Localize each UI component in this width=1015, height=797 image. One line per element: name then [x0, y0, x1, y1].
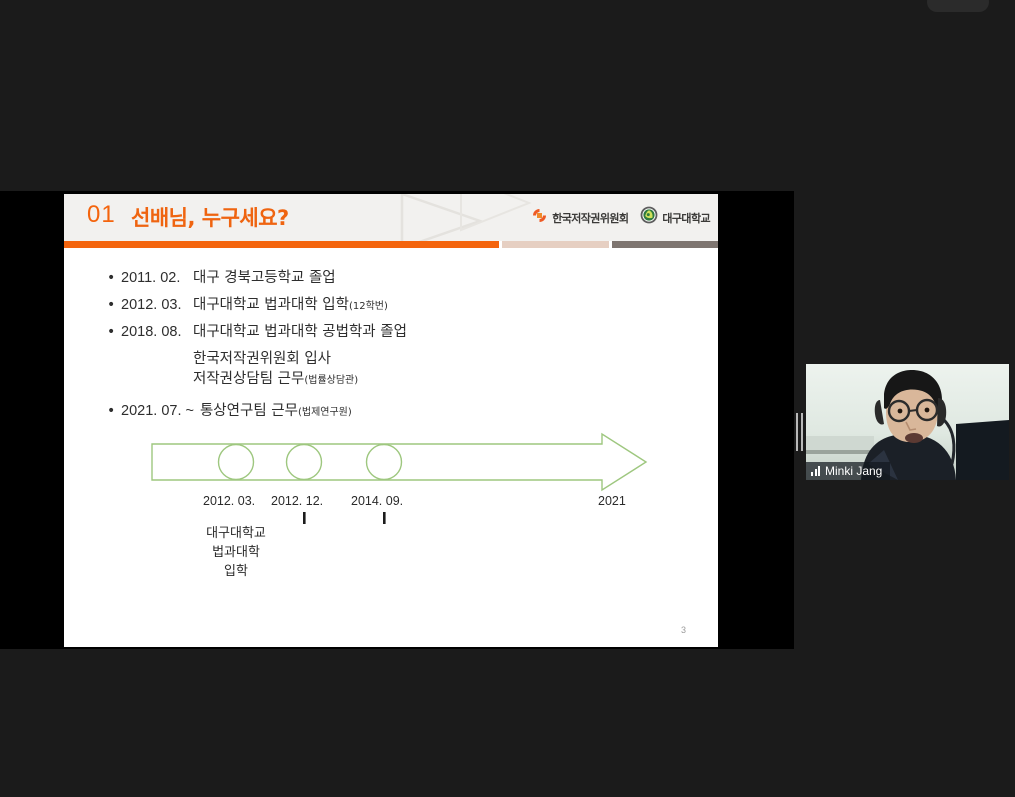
continuation-text: 한국저작권위원회 입사 — [193, 351, 331, 367]
slide-title: 선배님, 누구세요? — [131, 202, 289, 232]
bullet-dot-icon: • — [107, 295, 121, 315]
bullet-dot-icon: • — [107, 401, 121, 421]
bullet-sub-text: (법제연구원) — [298, 407, 352, 418]
bullet-main-text: 통상연구팀 근무 — [200, 403, 298, 419]
logo-label-daegu: 대구대학교 — [662, 210, 710, 226]
daegu-university-logo-icon — [640, 206, 658, 229]
accent-bar-orange — [64, 241, 499, 248]
bullet-dot-icon: • — [107, 322, 121, 342]
bullet-main-text: 대구대학교 법과대학 입학 — [193, 297, 349, 313]
continuation-text: 저작권상담팀 근무 — [193, 371, 304, 387]
bullet-date: 2011. 02. — [121, 268, 193, 288]
list-item-continuation: 저작권상담팀 근무(법률상담관) — [193, 369, 407, 391]
list-item: • 2018. 08. 대구대학교 법과대학 공법학과 졸업 — [107, 322, 407, 344]
participant-name: Minki Jang — [825, 464, 882, 478]
logo-korea-copyright-commission: 한국저작권위원회 — [531, 207, 628, 229]
bullet-text: 통상연구팀 근무(법제연구원) — [200, 401, 352, 423]
timeline-note-line-1: 대구대학교 — [176, 524, 296, 543]
bullet-sub-text: (12학번) — [349, 301, 388, 312]
list-item: • 2021. 07. ~ 통상연구팀 근무(법제연구원) — [107, 401, 407, 423]
participant-video-tile[interactable]: Minki Jang — [806, 364, 1009, 480]
accent-bar-beige — [502, 241, 609, 248]
bullet-dot-icon: • — [107, 268, 121, 288]
triangle-watermark-right — [457, 194, 535, 236]
bullet-main-text: 대구대학교 법과대학 공법학과 졸업 — [193, 324, 407, 340]
list-item: • 2011. 02. 대구 경북고등학교 졸업 — [107, 268, 407, 290]
korea-copyright-commission-logo-icon — [531, 207, 548, 229]
window-control-nub[interactable] — [927, 0, 989, 12]
drag-handle-icon[interactable] — [795, 412, 804, 452]
signal-bars-icon — [811, 466, 820, 476]
bullet-main-text: 대구 경북고등학교 졸업 — [193, 270, 336, 286]
slide-page-number: 3 — [681, 625, 686, 635]
timeline-note: 대구대학교 법과대학 입학 — [176, 524, 296, 581]
career-timeline: 2012. 03. 2012. 12. 2014. 09. 2021 대구대학교… — [150, 432, 650, 572]
bullet-date: 2018. 08. — [121, 322, 193, 342]
bullet-text: 대구 경북고등학교 졸업 — [193, 268, 336, 290]
slide-header: 01 선배님, 누구세요? 한국저작권위원회 — [64, 194, 718, 241]
bullet-date: 2012. 03. — [121, 295, 193, 315]
logo-daegu-university: 대구대학교 — [640, 206, 710, 229]
timeline-note-line-2: 법과대학 — [176, 543, 296, 562]
slide-section-number: 01 — [87, 201, 116, 229]
presentation-slide: 01 선배님, 누구세요? 한국저작권위원회 — [64, 194, 718, 647]
timeline-label-3: 2014. 09. — [351, 494, 403, 508]
timeline-label-1: 2012. 03. — [203, 494, 255, 508]
continuation-sub-text: (법률상담관) — [304, 375, 358, 386]
list-item-continuation: 한국저작권위원회 입사 — [193, 349, 407, 369]
timeline-arrow-graphic — [150, 432, 650, 492]
timeline-end-label: 2021 — [598, 494, 626, 508]
logo-group: 한국저작권위원회 대구대학교 — [531, 206, 710, 229]
biography-bullet-list: • 2011. 02. 대구 경북고등학교 졸업 • 2012. 03. 대구대… — [107, 268, 407, 428]
timeline-note-line-3: 입학 — [176, 562, 296, 581]
participant-name-chip: Minki Jang — [806, 462, 890, 480]
accent-bar-gray — [612, 241, 718, 248]
screen-root: 01 선배님, 누구세요? 한국저작권위원회 — [0, 0, 1015, 797]
bullet-date: 2021. 07. ~ — [121, 401, 194, 421]
logo-label-kcc: 한국저작권위원회 — [552, 210, 628, 226]
bullet-text: 대구대학교 법과대학 입학(12학번) — [193, 295, 388, 317]
timeline-label-2: 2012. 12. — [271, 494, 323, 508]
slide-accent-bar — [64, 241, 718, 248]
bullet-text: 대구대학교 법과대학 공법학과 졸업 — [193, 322, 407, 344]
list-item: • 2012. 03. 대구대학교 법과대학 입학(12학번) — [107, 295, 407, 317]
